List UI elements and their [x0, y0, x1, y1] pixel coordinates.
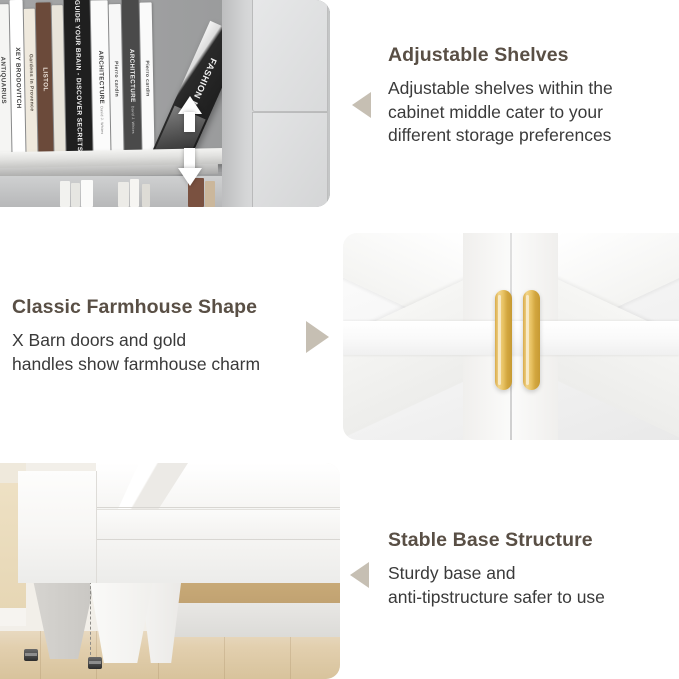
feature-text-stable-base-structure: Stable Base Structure Sturdy base and an… [388, 529, 676, 609]
gold-handle-left[interactable] [495, 290, 512, 390]
arrow-down-icon [178, 168, 202, 186]
feature-title: Adjustable Shelves [388, 44, 676, 67]
baseboard [0, 608, 26, 626]
feature-body-line: different storage preferences [388, 124, 676, 147]
cabinet-underside [150, 603, 340, 637]
book-spine: ARCHITECTURE David J. Whites [91, 0, 111, 154]
triangle-left-icon [352, 92, 371, 118]
cabinet-base-photo [0, 463, 340, 679]
feature-body: Adjustable shelves within the cabinet mi… [388, 77, 676, 147]
feature-body-line: Adjustable shelves within the [388, 77, 676, 100]
book-spine: Pierro cardin [140, 2, 155, 153]
feature-body-line: anti-tipstructure safer to use [388, 586, 676, 609]
book-spine [71, 183, 80, 207]
book-spine [205, 181, 215, 207]
book-spine [118, 182, 129, 207]
book-spine [60, 181, 70, 207]
book-spine [142, 184, 150, 207]
feature-body-line: X Barn doors and gold [12, 329, 332, 352]
book-spine [81, 180, 93, 207]
book-spine: LISTOL [36, 2, 54, 155]
triangle-right-icon [306, 321, 329, 353]
feature-title: Stable Base Structure [388, 529, 676, 552]
feature-body-line: handles show farmhouse charm [12, 353, 332, 376]
feature-body-line: cabinet middle cater to your [388, 101, 676, 124]
x-barn-doors-photo [343, 233, 679, 440]
feature-text-classic-farmhouse-shape: Classic Farmhouse Shape X Barn doors and… [12, 296, 332, 376]
feature-title: Classic Farmhouse Shape [12, 296, 332, 319]
cabinet-door-upper [252, 0, 328, 112]
arrow-up-stem [184, 112, 195, 132]
feature-body-line: Sturdy base and [388, 562, 676, 585]
feature-text-adjustable-shelves: Adjustable Shelves Adjustable shelves wi… [388, 44, 676, 147]
infographic-canvas: ANTIQUARIUS XEY BRODOVITCH Gardens in Pr… [0, 0, 679, 679]
leg-seam-dashed [90, 581, 91, 655]
gold-handle-right[interactable] [523, 290, 540, 390]
cabinet-drawer-front [96, 509, 340, 540]
book-spine: ARCHITECTURE David J. Whites [122, 0, 142, 154]
book-spine [130, 179, 139, 207]
adjustable-foot-left [24, 649, 38, 661]
triangle-left-icon [350, 562, 369, 588]
adjustable-foot-center [88, 657, 102, 669]
bookshelf-photo: ANTIQUARIUS XEY BRODOVITCH Gardens in Pr… [0, 0, 330, 207]
book-spine: GUIDE YOUR BRAIN - DISCOVER SECRETS [64, 0, 93, 155]
feature-body: Sturdy base and anti-tipstructure safer … [388, 562, 676, 609]
cabinet-door-lower [252, 112, 328, 207]
feature-body: X Barn doors and gold handles show farmh… [12, 329, 332, 376]
arrow-down-stem [184, 148, 195, 170]
